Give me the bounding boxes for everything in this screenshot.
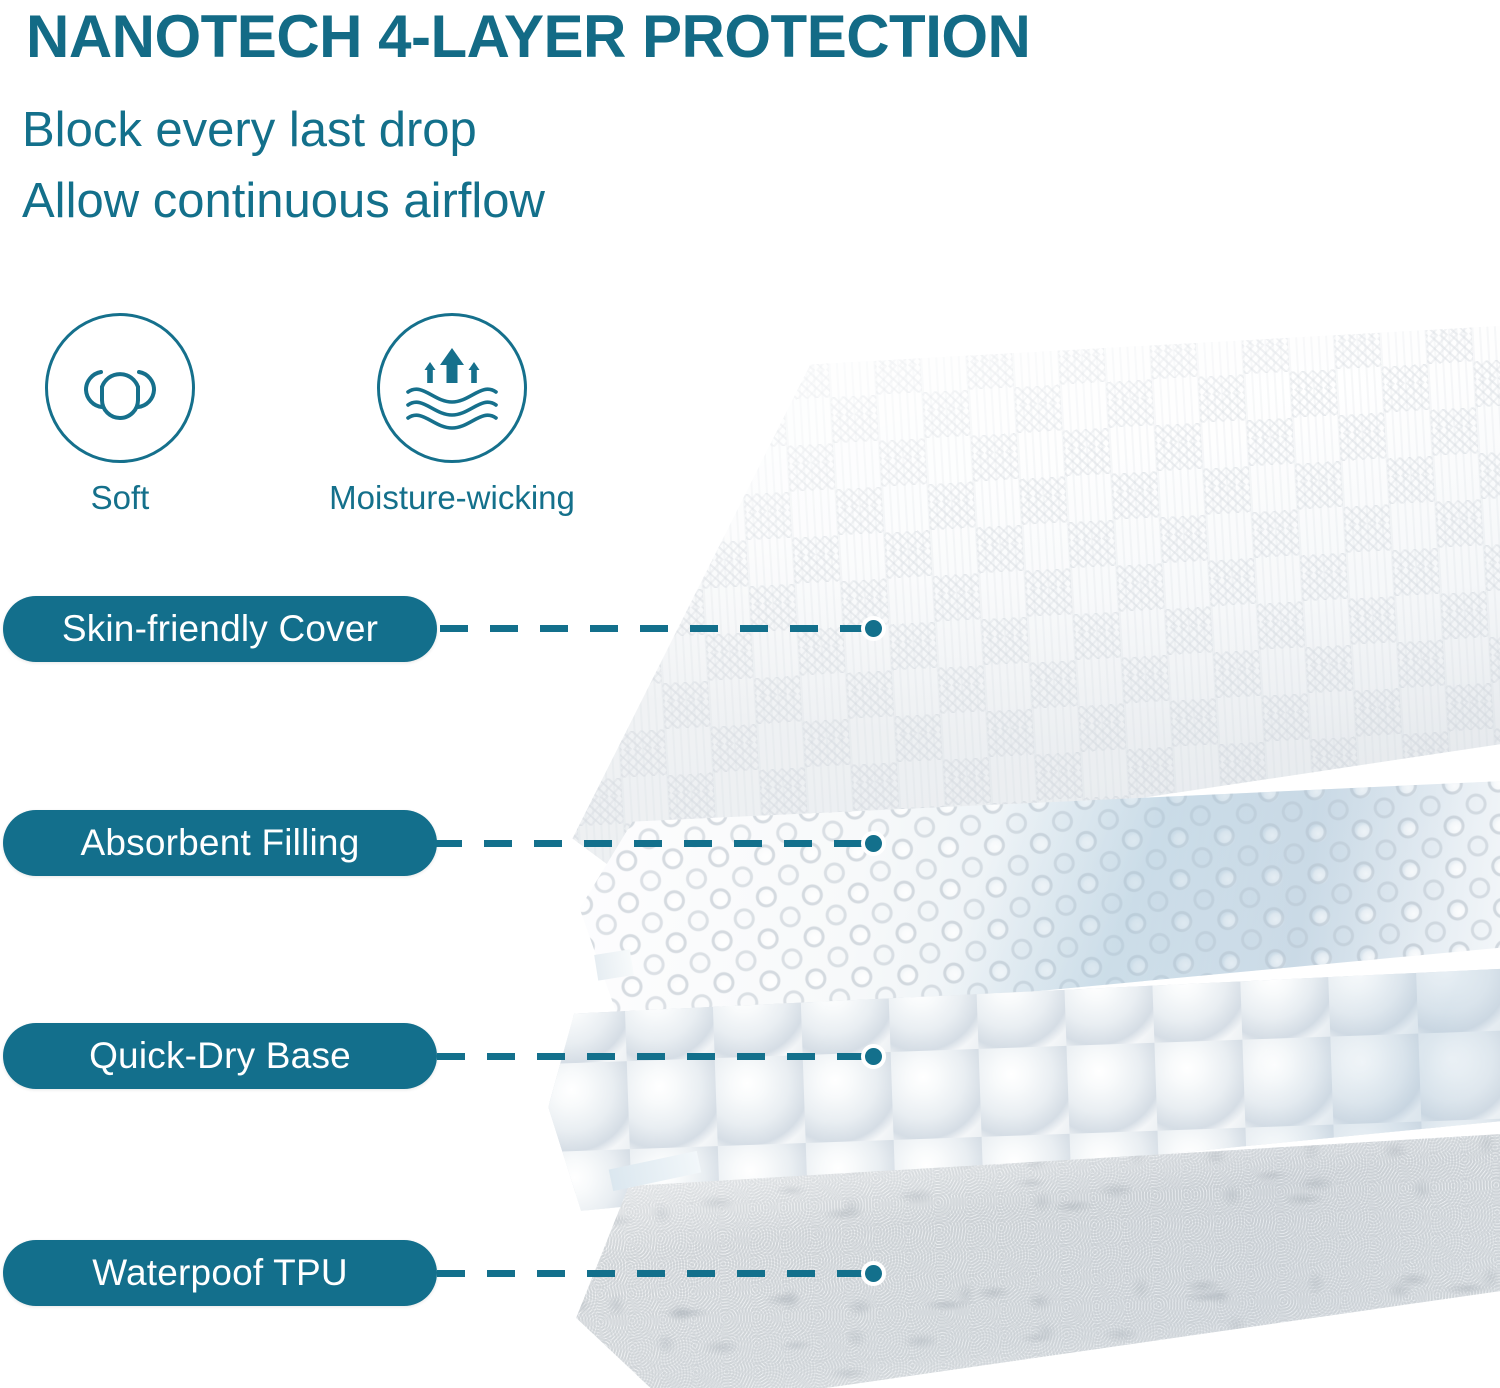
connector-line-absorbent-filling (434, 840, 872, 847)
layer-label-skin-friendly-cover[interactable]: Skin-friendly Cover (3, 596, 437, 662)
connector-line-quick-dry-base (437, 1053, 872, 1060)
moisture-tint (576, 780, 1500, 1031)
feature-badge-moisture-wicking: Moisture-wicking (377, 313, 527, 517)
layer-label-waterproof-tpu[interactable]: Waterpoof TPU (3, 1240, 437, 1306)
bead-texture-row-2 (545, 968, 1500, 1212)
feature-circle-soft (45, 313, 195, 463)
connector-line-skin-friendly-cover (440, 625, 872, 632)
layer-sheen (547, 326, 1500, 879)
product-infographic: NANOTECH 4-LAYER PROTECTION Block every … (0, 0, 1500, 1388)
subtitle-line-2: Allow continuous airflow (22, 175, 545, 229)
feature-label-soft: Soft (91, 479, 150, 517)
bead-texture-row-3 (545, 968, 1500, 1212)
tpu-shine (571, 1133, 1500, 1388)
connector-endpoint-waterproof-tpu (861, 1261, 886, 1286)
dot-emboss-texture (576, 780, 1500, 1031)
illustration-layer-waterproof-tpu (571, 1133, 1500, 1388)
moisture-wicking-icon (398, 340, 506, 437)
layer-label-quick-dry-base[interactable]: Quick-Dry Base (3, 1023, 437, 1089)
tpu-speckle-texture (571, 1133, 1500, 1388)
illustration-layer-absorbent-filling (576, 780, 1500, 1031)
weave-texture-2 (547, 326, 1500, 879)
subtitle-line-1: Block every last drop (22, 104, 477, 158)
connector-endpoint-absorbent-filling (861, 831, 886, 856)
page-title: NANOTECH 4-LAYER PROTECTION (26, 2, 1030, 71)
illustration-layer-skin-friendly-cover (547, 326, 1500, 879)
feature-badge-row: Soft (45, 313, 527, 517)
cloud-icon (68, 342, 172, 435)
weave-texture (547, 326, 1500, 879)
feature-label-moisture-wicking: Moisture-wicking (329, 479, 575, 517)
layer-label-absorbent-filling[interactable]: Absorbent Filling (3, 810, 437, 876)
illustration-layer-quick-dry-base (545, 968, 1500, 1212)
dot-emboss-texture-2 (576, 780, 1500, 1031)
layer-edge-sliver-filling (594, 949, 634, 980)
feature-badge-soft: Soft (45, 313, 195, 517)
feature-circle-moisture-wicking (377, 313, 527, 463)
bead-blue-tint (545, 968, 1500, 1212)
layer-edge-sliver-base (609, 1151, 702, 1191)
connector-line-waterproof-tpu (437, 1270, 872, 1277)
bead-texture-row-1 (545, 968, 1500, 1212)
connector-endpoint-skin-friendly-cover (861, 616, 886, 641)
tpu-mottle-texture (571, 1133, 1500, 1388)
connector-endpoint-quick-dry-base (861, 1044, 886, 1069)
